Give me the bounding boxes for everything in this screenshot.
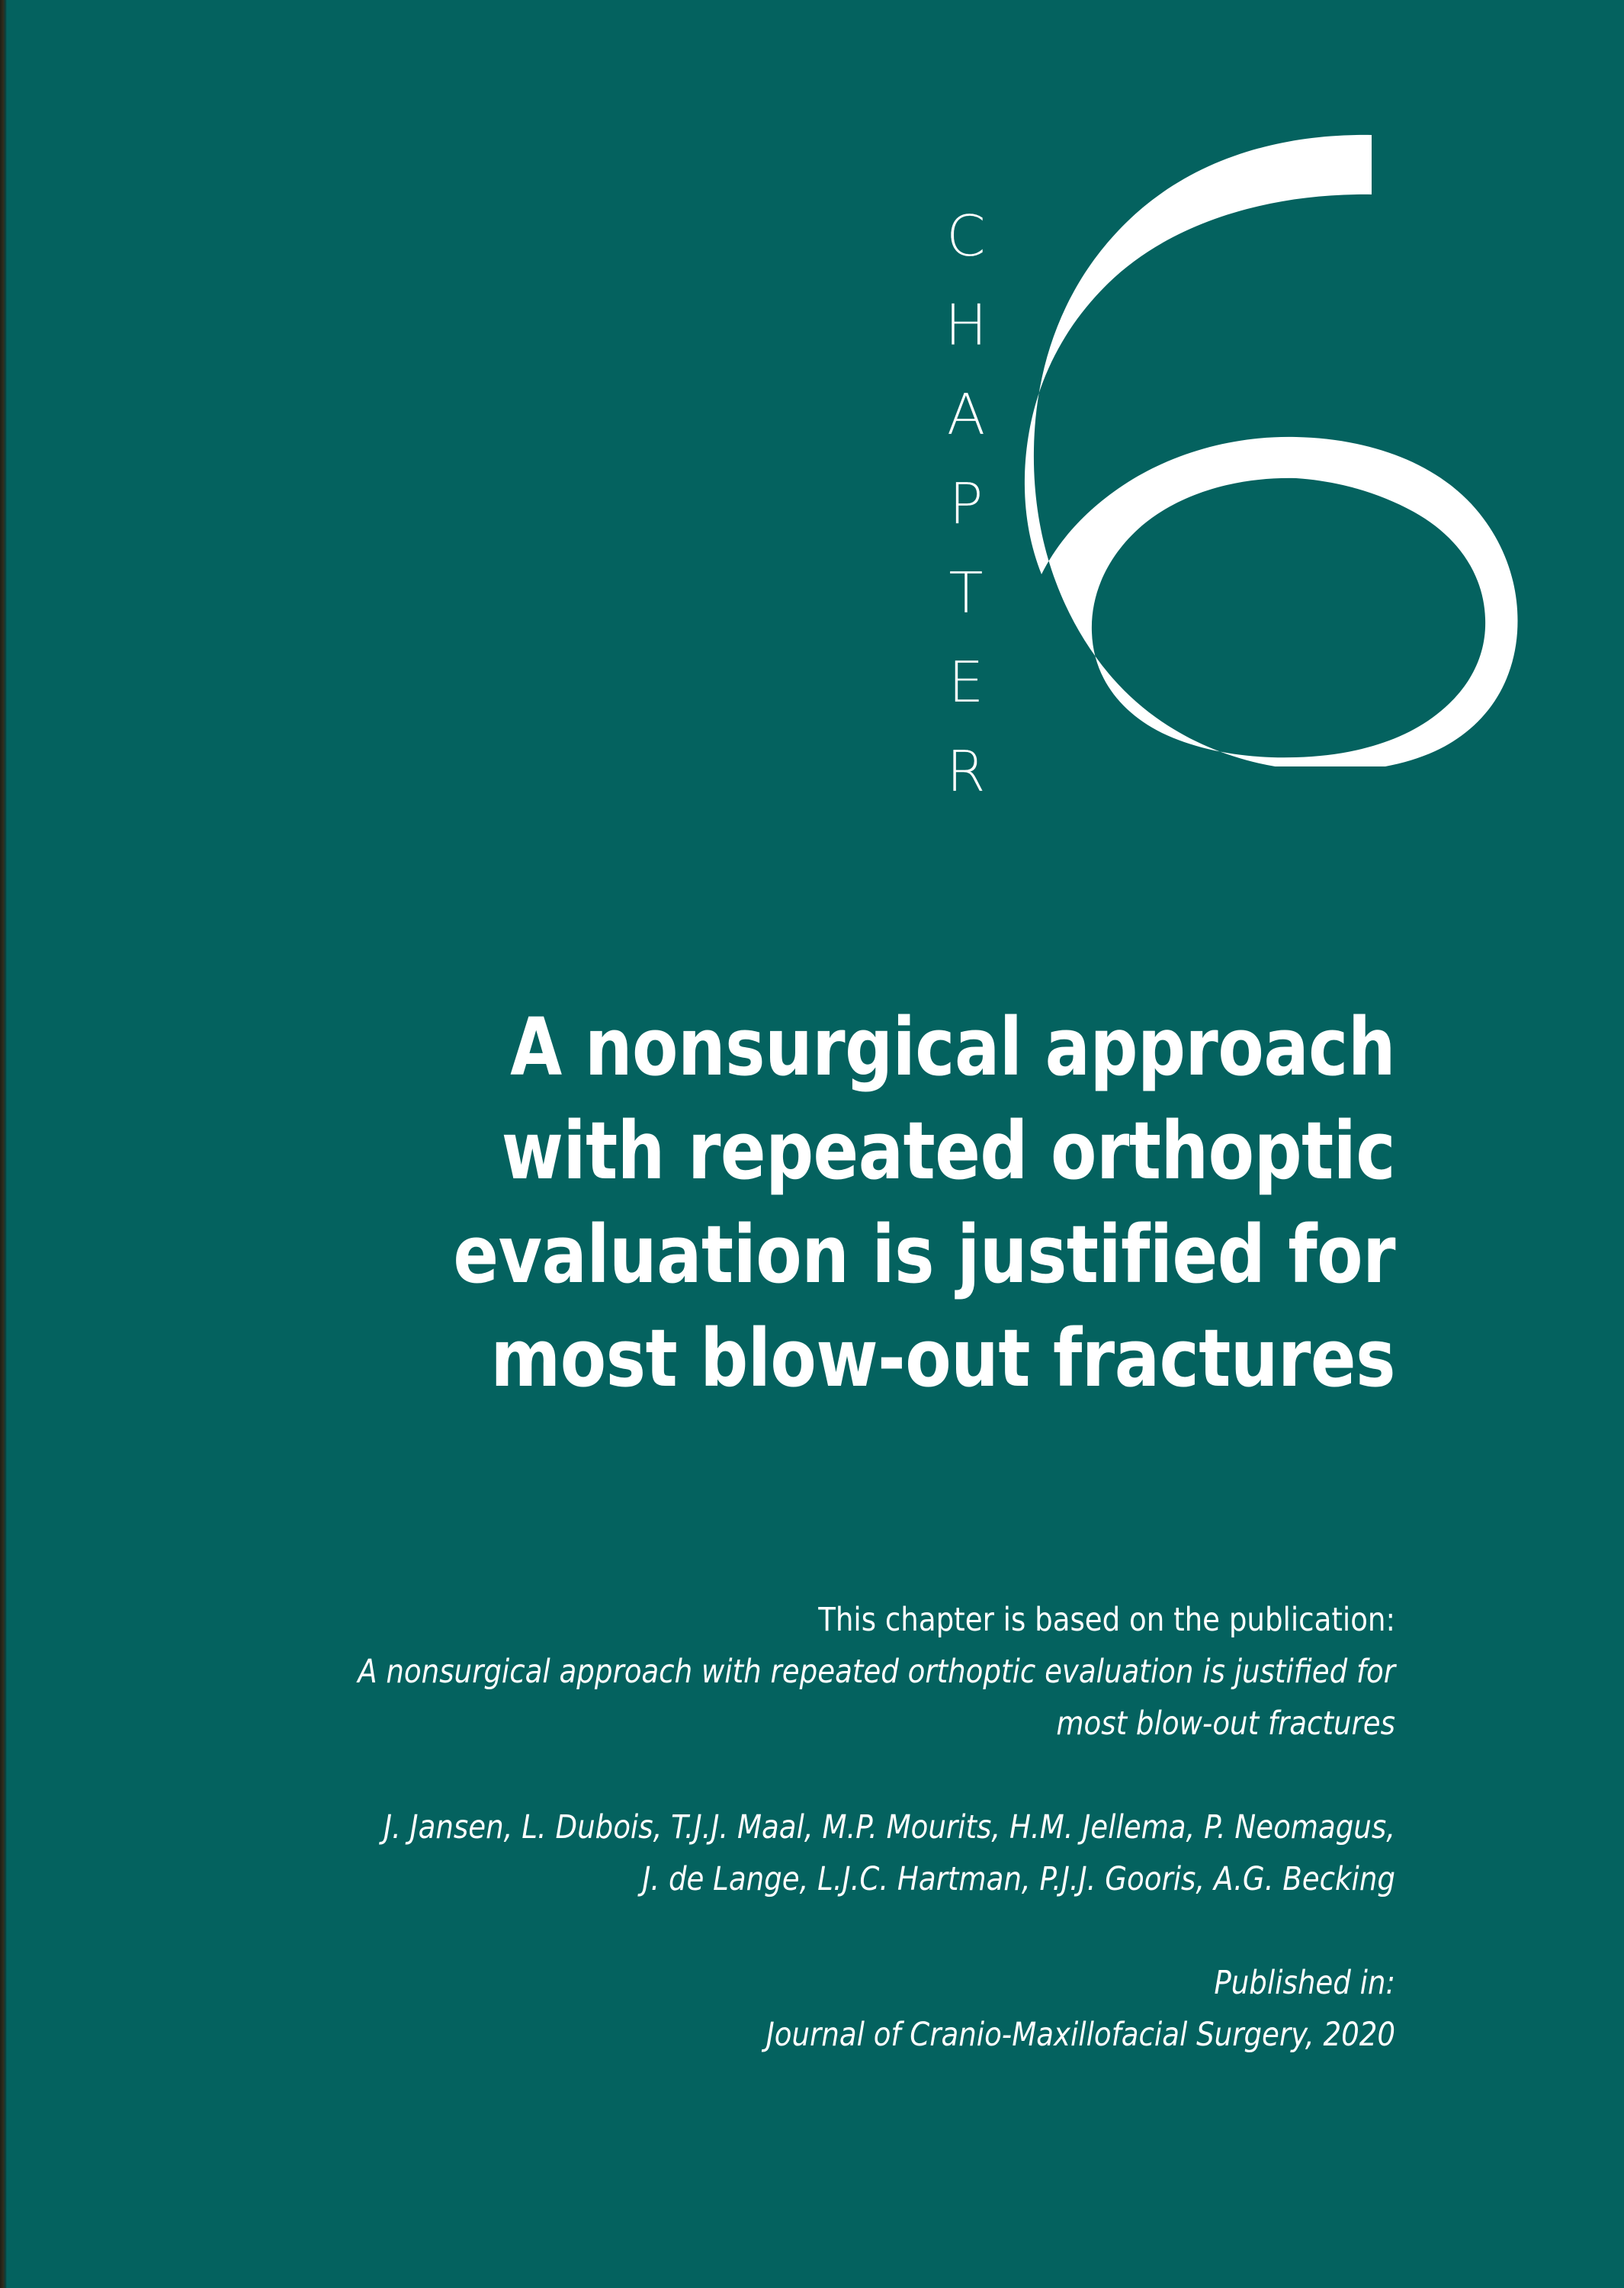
title-line-3: evaluation is justified for [392, 1203, 1395, 1306]
chapter-letter-h: H [945, 281, 987, 371]
publication-title-line-1: A nonsurgical approach with repeated ort… [297, 1646, 1395, 1698]
title-line-1: A nonsurgical approach [392, 995, 1395, 1099]
credits-spacer-2 [297, 1905, 1395, 1957]
credits-spacer-1 [297, 1750, 1395, 1801]
chapter-letter-a: A [947, 371, 986, 460]
chapter-letter-r: R [946, 728, 985, 817]
chapter-letter-c: C [946, 192, 986, 281]
title-line-2: with repeated orthoptic [392, 1099, 1395, 1203]
chapter-letter-t: T [948, 549, 983, 638]
chapter-cover-page: C H A P T E R 6 A nonsurgical approach w… [0, 0, 1624, 2288]
page-edge-strip [0, 0, 7, 2288]
author-line-1: J. Jansen, L. Dubois, T.J.J. Maal, M.P. … [297, 1801, 1395, 1853]
chapter-number-6: 6 [993, 133, 1526, 766]
chapter-letter-p: P [949, 460, 984, 549]
author-line-2: J. de Lange, L.J.C. Hartman, P.J.J. Goor… [297, 1853, 1395, 1905]
page-title: A nonsurgical approach with repeated ort… [392, 995, 1395, 1410]
published-in-label: Published in: [297, 1957, 1395, 2009]
based-on-label: This chapter is based on the publication… [297, 1594, 1395, 1646]
title-line-4: most blow-out fractures [392, 1306, 1395, 1410]
publication-credits: This chapter is based on the publication… [297, 1594, 1395, 2061]
journal-reference: Journal of Cranio-Maxillofacial Surgery,… [297, 2009, 1395, 2061]
chapter-letter-e: E [948, 638, 984, 728]
publication-title-line-2: most blow-out fractures [297, 1698, 1395, 1750]
